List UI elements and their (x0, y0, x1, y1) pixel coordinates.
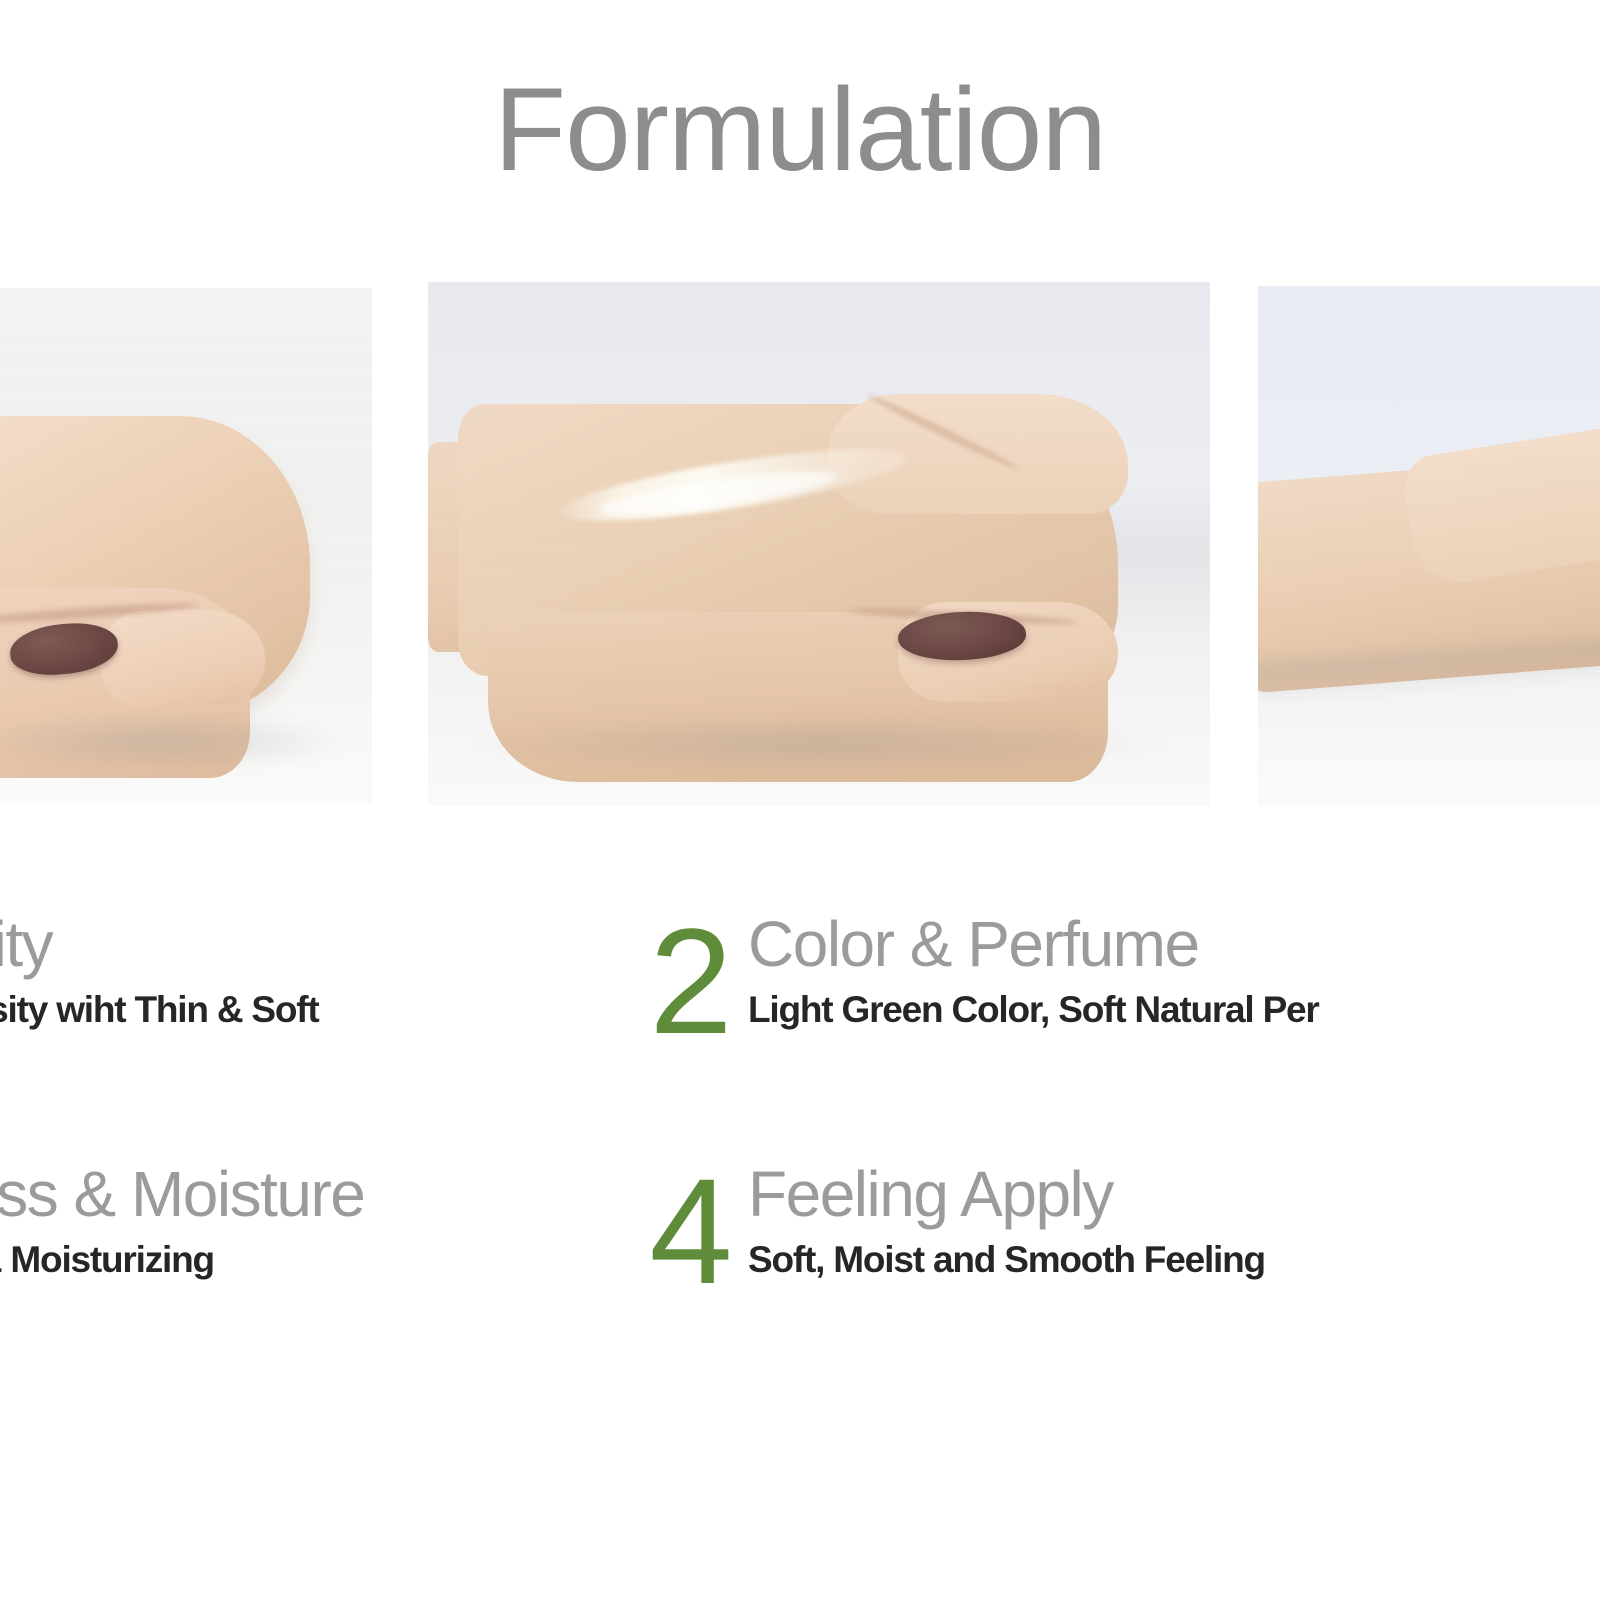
feature-number: 2 (630, 915, 748, 1047)
feature-item-viscosity: 1 osity scosity wiht Thin & Soft (0, 905, 610, 1047)
feature-subtitle: scosity wiht Thin & Soft (0, 988, 319, 1032)
feature-list: 1 osity scosity wiht Thin & Soft 2 Color… (0, 905, 1600, 1297)
thumb-shape (100, 610, 265, 706)
page-header: Formulation (0, 0, 1600, 250)
product-photo-gallery (0, 282, 1600, 812)
drop-shadow (0, 712, 351, 772)
photo-forearm-absorbed (1258, 286, 1600, 805)
page-title: Formulation (494, 71, 1106, 189)
feature-text-block: Feeling Apply Soft, Moist and Smooth Fee… (748, 1155, 1265, 1283)
feature-number: 4 (630, 1165, 748, 1297)
feature-title: ness & Moisture (0, 1161, 364, 1228)
photo-fist-with-product-blob (0, 288, 372, 803)
feature-text-block: ness & Moisture ee & Moisturizing (0, 1155, 364, 1283)
feature-title: Feeling Apply (748, 1161, 1265, 1228)
drop-shadow (467, 714, 1171, 774)
photo-hand-with-swatch (428, 282, 1210, 805)
feature-title: osity (0, 911, 319, 978)
feature-subtitle: ee & Moisturizing (0, 1238, 364, 1282)
feature-item-feeling-apply: 4 Feeling Apply Soft, Moist and Smooth F… (610, 1155, 1430, 1297)
feature-subtitle: Light Green Color, Soft Natural Per (748, 988, 1319, 1032)
feature-text-block: osity scosity wiht Thin & Soft (0, 905, 319, 1033)
feature-text-block: Color & Perfume Light Green Color, Soft … (748, 905, 1319, 1033)
feature-item-freshness-moisture: 3 ness & Moisture ee & Moisturizing (0, 1155, 610, 1297)
feature-row: 1 osity scosity wiht Thin & Soft 2 Color… (0, 905, 1600, 1047)
feature-subtitle: Soft, Moist and Smooth Feeling (748, 1238, 1265, 1282)
feature-row: 3 ness & Moisture ee & Moisturizing 4 Fe… (0, 1155, 1600, 1297)
feature-item-color-perfume: 2 Color & Perfume Light Green Color, Sof… (610, 905, 1430, 1047)
feature-title: Color & Perfume (748, 911, 1319, 978)
